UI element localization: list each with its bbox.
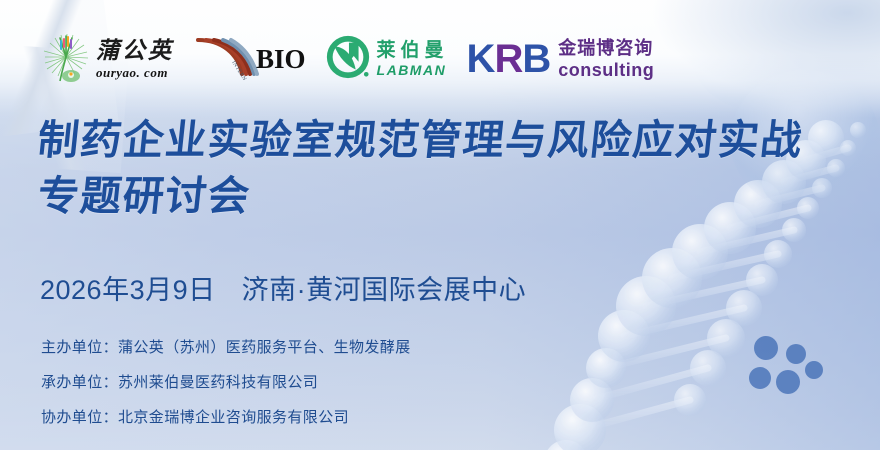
sponsor-logo-row: 蒲公英 ouryao. com INTERNATIONAL xyxy=(40,28,654,90)
logo-bio-text: BIO xyxy=(256,44,306,75)
logo-krb[interactable]: KRB 金瑞博咨询 consulting xyxy=(467,39,655,79)
organizer-list: 主办单位：蒲公英（苏州）医药服务平台、生物发酵展 承办单位：苏州莱伯曼医药科技有… xyxy=(41,336,411,427)
krb-letter-b: B xyxy=(522,37,550,81)
logo-pugongying-cn: 蒲公英 xyxy=(96,39,174,62)
logo-labman-cn: 莱伯曼 xyxy=(377,41,449,60)
labman-leaf-icon xyxy=(324,33,372,86)
molecule-cluster-graphic xyxy=(744,332,828,402)
organizer-coorganizer: 协办单位：北京金瑞博企业咨询服务有限公司 xyxy=(41,406,411,427)
headline-line-1: 制药企业实验室规范管理与风险应对实战 xyxy=(35,112,861,168)
logo-krb-cn: 金瑞博咨询 xyxy=(558,39,654,57)
poster-headline: 制药企业实验室规范管理与风险应对实战 专题研讨会 xyxy=(38,112,858,224)
logo-pugongying-en: ouryao. com xyxy=(96,66,174,79)
logo-krb-en: consulting xyxy=(558,61,654,79)
bio-arcs-icon: INTERNATIONAL xyxy=(192,34,262,85)
krb-wordmark-icon: KRB xyxy=(467,39,551,79)
event-date: 2026年3月9日 xyxy=(40,275,216,305)
krb-letter-k: K xyxy=(467,37,495,81)
headline-line-2: 专题研讨会 xyxy=(35,168,861,224)
dandelion-icon xyxy=(40,31,92,87)
logo-labman-en: LABMAN xyxy=(377,63,449,77)
logo-pugongying[interactable]: 蒲公英 ouryao. com xyxy=(40,31,174,87)
krb-letter-r: R xyxy=(494,37,522,81)
organizer-host: 主办单位：蒲公英（苏州）医药服务平台、生物发酵展 xyxy=(41,336,411,357)
logo-bio[interactable]: INTERNATIONAL BIO xyxy=(192,34,306,85)
event-venue: 济南·黄河国际会展中心 xyxy=(242,275,527,305)
conference-poster: 蒲公英 ouryao. com INTERNATIONAL xyxy=(0,0,880,450)
logo-labman[interactable]: 莱伯曼 LABMAN xyxy=(324,33,449,86)
date-venue-line: 2026年3月9日济南·黄河国际会展中心 xyxy=(40,268,526,307)
organizer-undertaker: 承办单位：苏州莱伯曼医药科技有限公司 xyxy=(41,371,411,392)
